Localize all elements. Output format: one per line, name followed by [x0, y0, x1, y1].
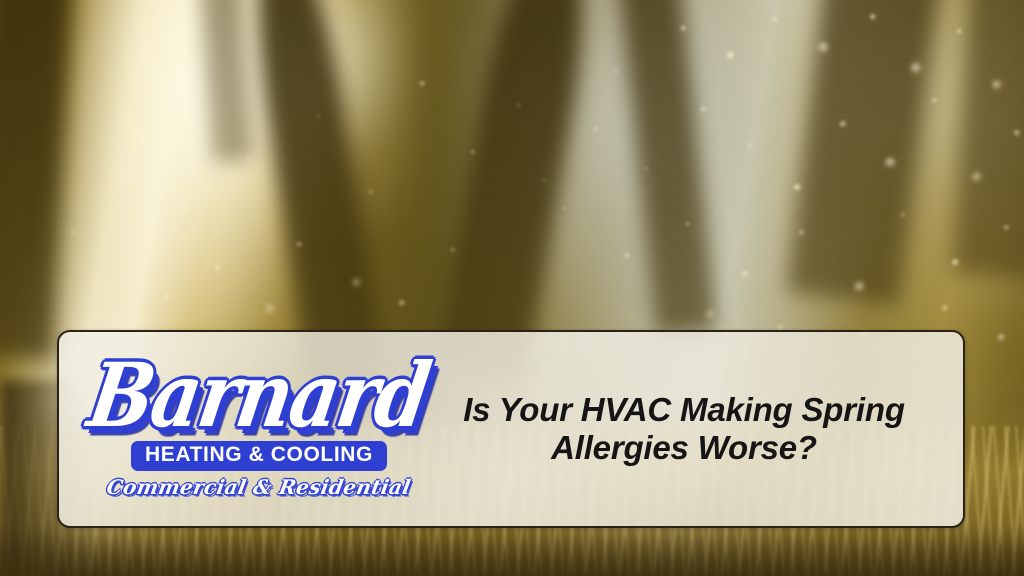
pollen-mote	[246, 156, 250, 160]
page-title: Is Your HVAC Making Spring Allergies Wor…	[449, 391, 919, 468]
content-banner-card: Barnard HEATING & COOLING Commercial & R…	[57, 330, 965, 528]
headline-container: Is Your HVAC Making Spring Allergies Wor…	[429, 391, 963, 468]
pollen-mote	[369, 190, 373, 194]
pollen-mote	[451, 248, 455, 252]
pollen-mote	[840, 121, 846, 127]
pollen-mote	[886, 158, 895, 167]
pollen-mote	[701, 107, 706, 112]
pollen-mote	[998, 334, 1005, 341]
pollen-mote	[614, 69, 618, 73]
pollen-mote	[317, 115, 320, 118]
pollen-mote	[266, 305, 274, 313]
pollen-mote	[901, 213, 905, 217]
pollen-mote	[855, 282, 864, 291]
pollen-mote	[952, 259, 959, 266]
pollen-mote	[748, 144, 752, 148]
pollen-mote	[973, 173, 981, 181]
pollen-mote	[471, 150, 475, 154]
pollen-mote	[686, 222, 690, 226]
company-logo[interactable]: Barnard HEATING & COOLING Commercial & R…	[59, 361, 429, 497]
pollen-mote	[123, 127, 126, 130]
pollen-mote	[993, 81, 1001, 89]
pollen-mote	[681, 26, 686, 31]
pollen-mote	[794, 184, 801, 191]
pollen-mote	[1014, 130, 1020, 136]
pollen-mote	[870, 14, 876, 20]
pollen-mote	[543, 179, 546, 182]
logo-brand-name: Barnard	[84, 356, 434, 437]
pollen-mote	[594, 127, 598, 131]
pollen-mote	[184, 207, 189, 212]
pollen-mote	[1004, 225, 1009, 230]
pollen-mote	[742, 271, 748, 277]
pollen-mote	[707, 311, 714, 318]
pollen-mote	[645, 167, 648, 170]
meadow-bottom-shadow	[0, 524, 1024, 576]
pollen-mote	[727, 52, 734, 59]
pollen-mote	[517, 104, 520, 107]
pollen-mote	[957, 29, 962, 34]
pollen-mote	[420, 81, 425, 86]
pollen-mote	[942, 305, 948, 311]
pollen-mote	[773, 17, 778, 22]
pollen-mote	[72, 230, 76, 234]
pollen-mote	[932, 98, 937, 103]
pollen-mote	[353, 279, 360, 286]
pollen-mote	[911, 63, 921, 73]
pollen-mote	[563, 207, 566, 210]
pollen-mote	[215, 265, 221, 271]
pollen-mote	[625, 253, 630, 258]
pollen-mote	[799, 230, 804, 235]
pollen-mote	[164, 294, 170, 300]
logo-tagline: Commercial & Residential	[105, 477, 412, 497]
pollen-mote	[399, 300, 405, 306]
pollen-mote	[297, 242, 302, 247]
pollen-mote	[819, 43, 828, 52]
